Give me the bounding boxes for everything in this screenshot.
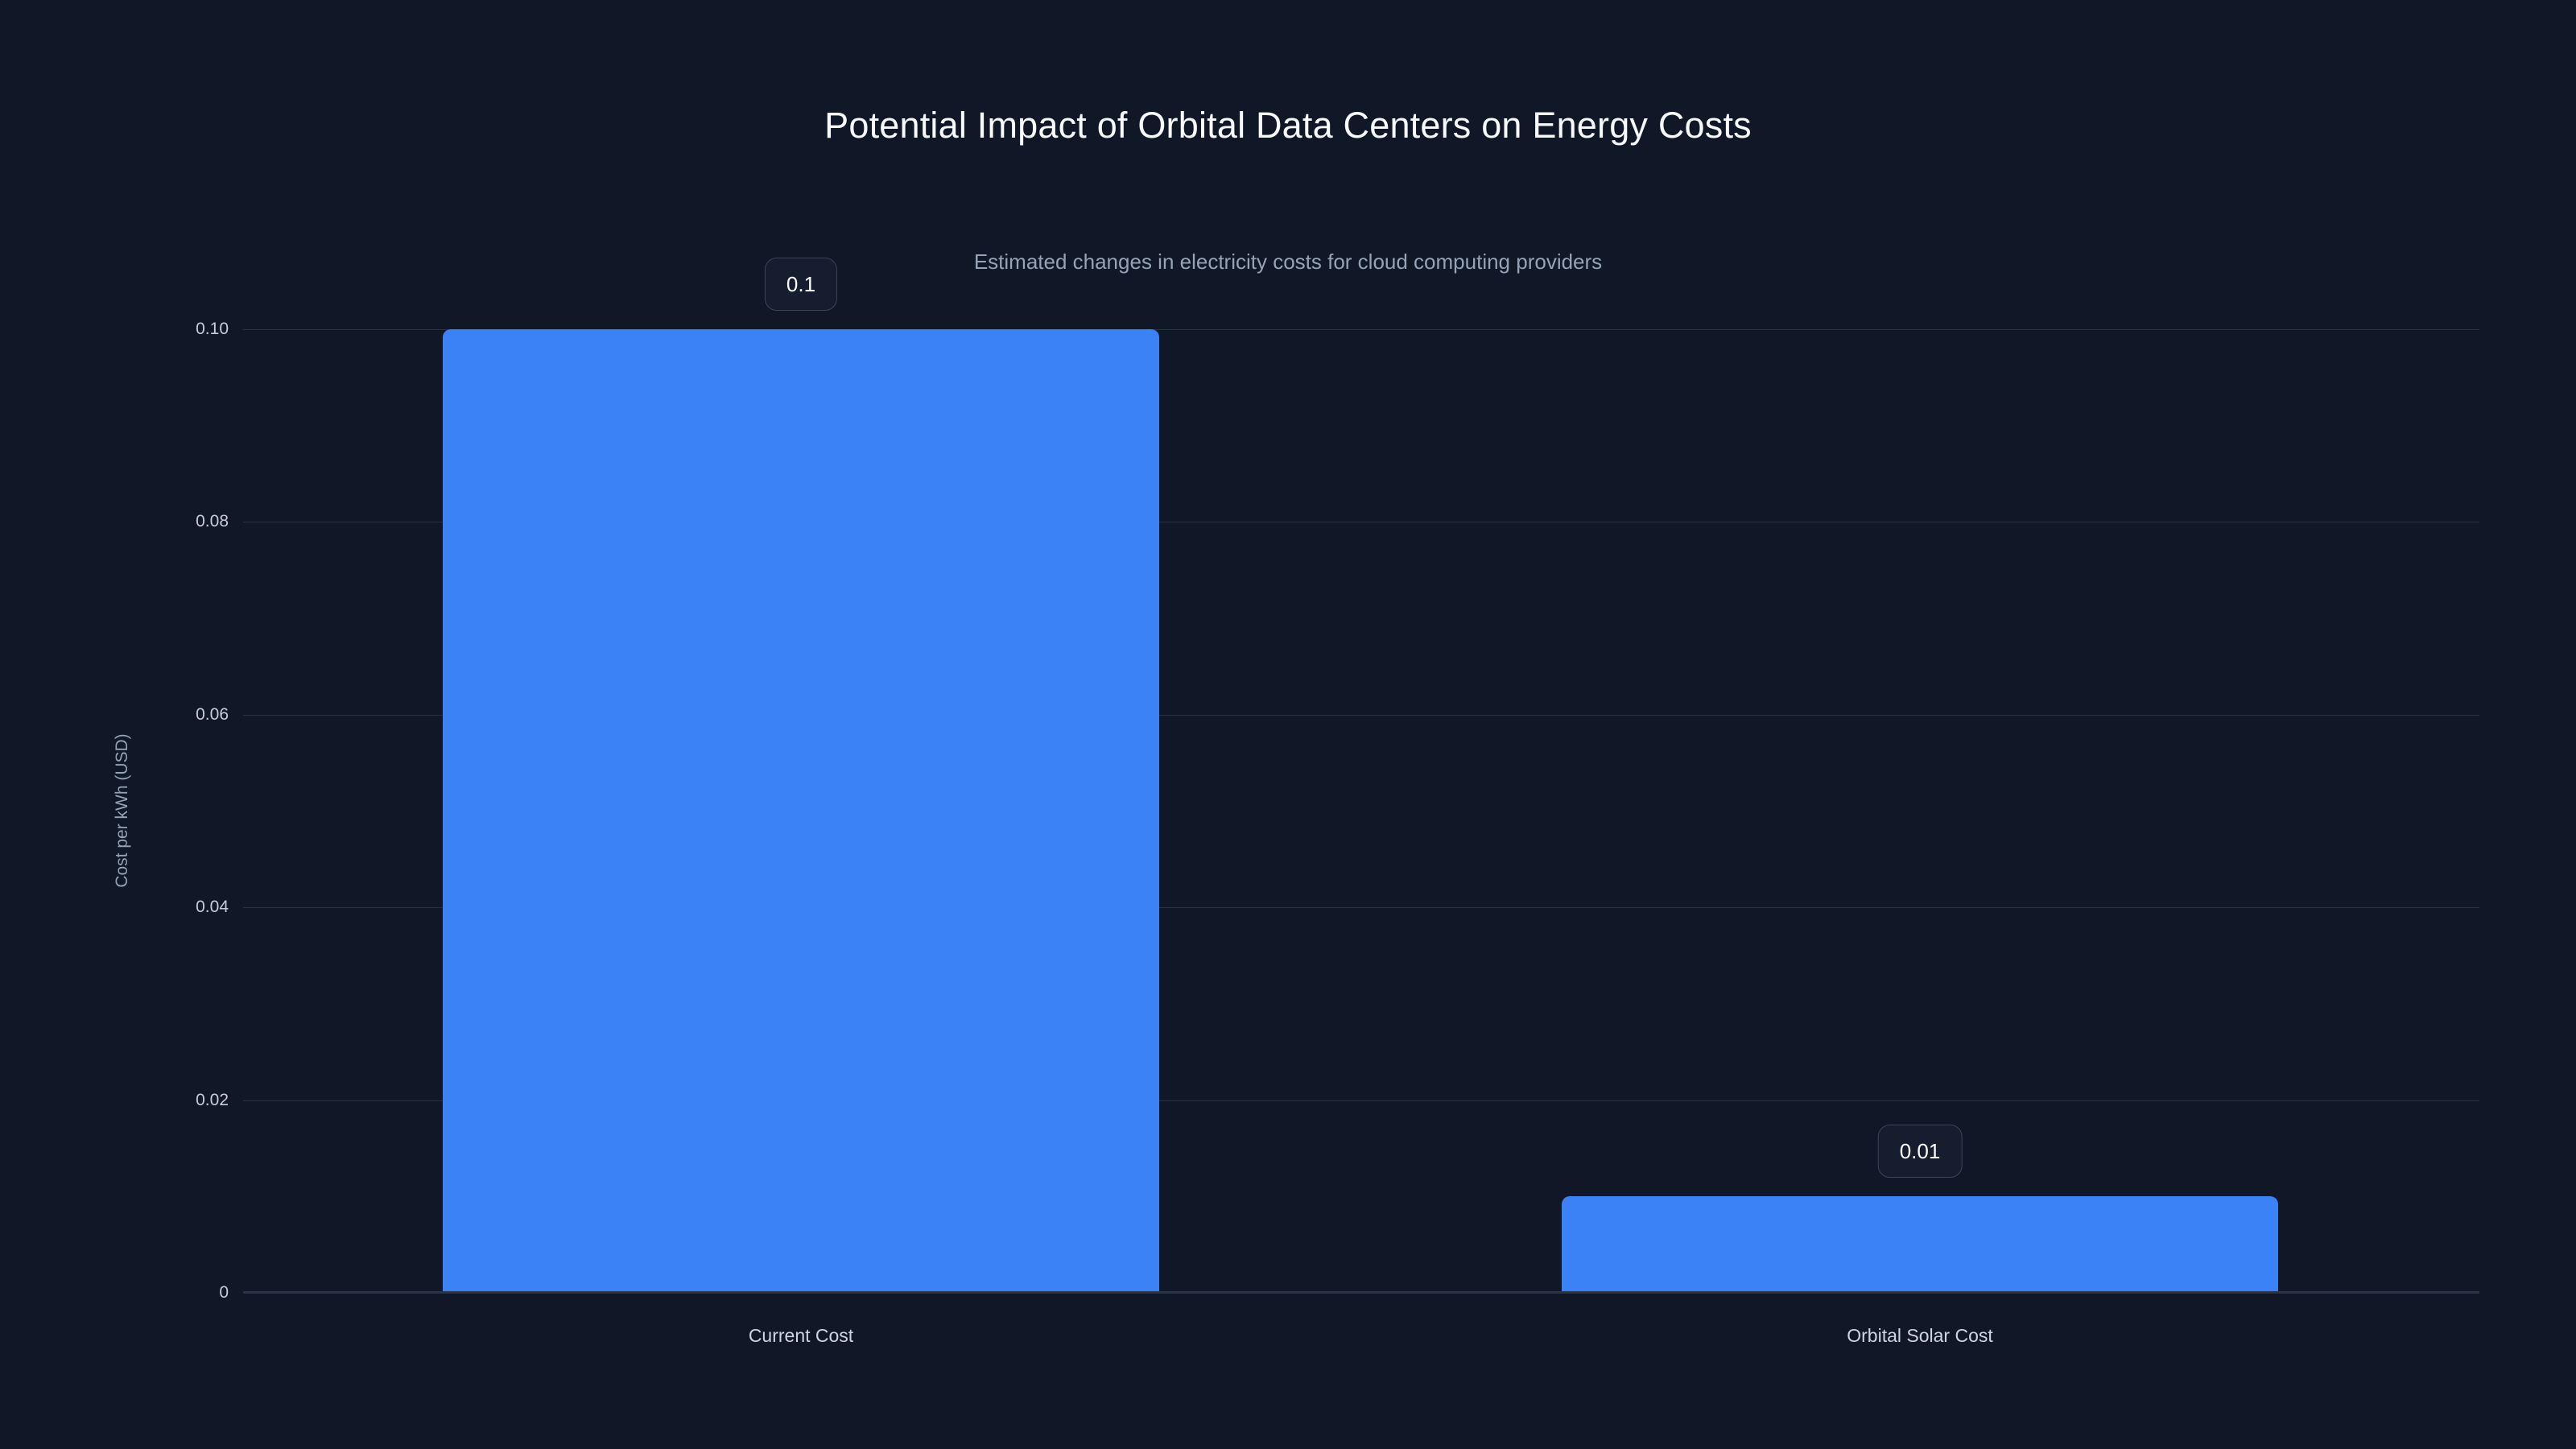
bar[interactable] [1562, 1196, 2278, 1293]
y-tick-label: 0 [100, 1283, 229, 1302]
bar[interactable] [443, 329, 1159, 1293]
y-tick-label: 0.04 [100, 898, 229, 917]
x-category-label: Orbital Solar Cost [1847, 1325, 1993, 1347]
chart-subtitle: Estimated changes in electricity costs f… [0, 250, 2576, 275]
bar-value-label: 0.1 [765, 258, 837, 311]
plot-area [243, 329, 2479, 1293]
bar-chart: Potential Impact of Orbital Data Centers… [0, 0, 2576, 1449]
y-tick-label: 0.08 [100, 512, 229, 531]
bar-value-label: 0.01 [1878, 1125, 1963, 1178]
gridline [243, 1293, 2479, 1294]
x-category-label: Current Cost [749, 1325, 853, 1347]
axis-baseline [243, 1291, 2479, 1293]
chart-title: Potential Impact of Orbital Data Centers… [0, 105, 2576, 147]
y-tick-label: 0.10 [100, 320, 229, 339]
y-tick-label: 0.06 [100, 705, 229, 724]
y-tick-label: 0.02 [100, 1091, 229, 1110]
y-axis-title-text: Cost per kWh (USD) [113, 733, 132, 887]
